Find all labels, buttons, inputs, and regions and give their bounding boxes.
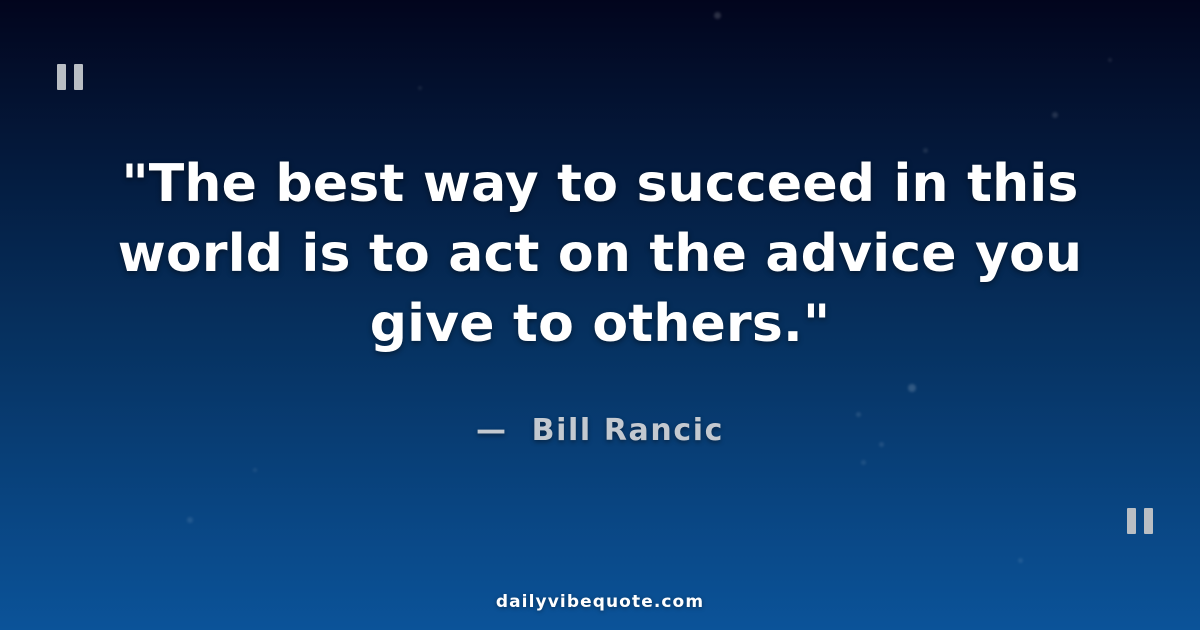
card-content: "The best way to succeed in this world i… — [0, 0, 1200, 630]
quote-text: "The best way to succeed in this world i… — [63, 149, 1138, 359]
footer-site-label: dailyvibequote.com — [0, 592, 1200, 612]
quote-attribution: — Bill Rancic — [476, 413, 724, 448]
quote-card: "The best way to succeed in this world i… — [0, 0, 1200, 630]
